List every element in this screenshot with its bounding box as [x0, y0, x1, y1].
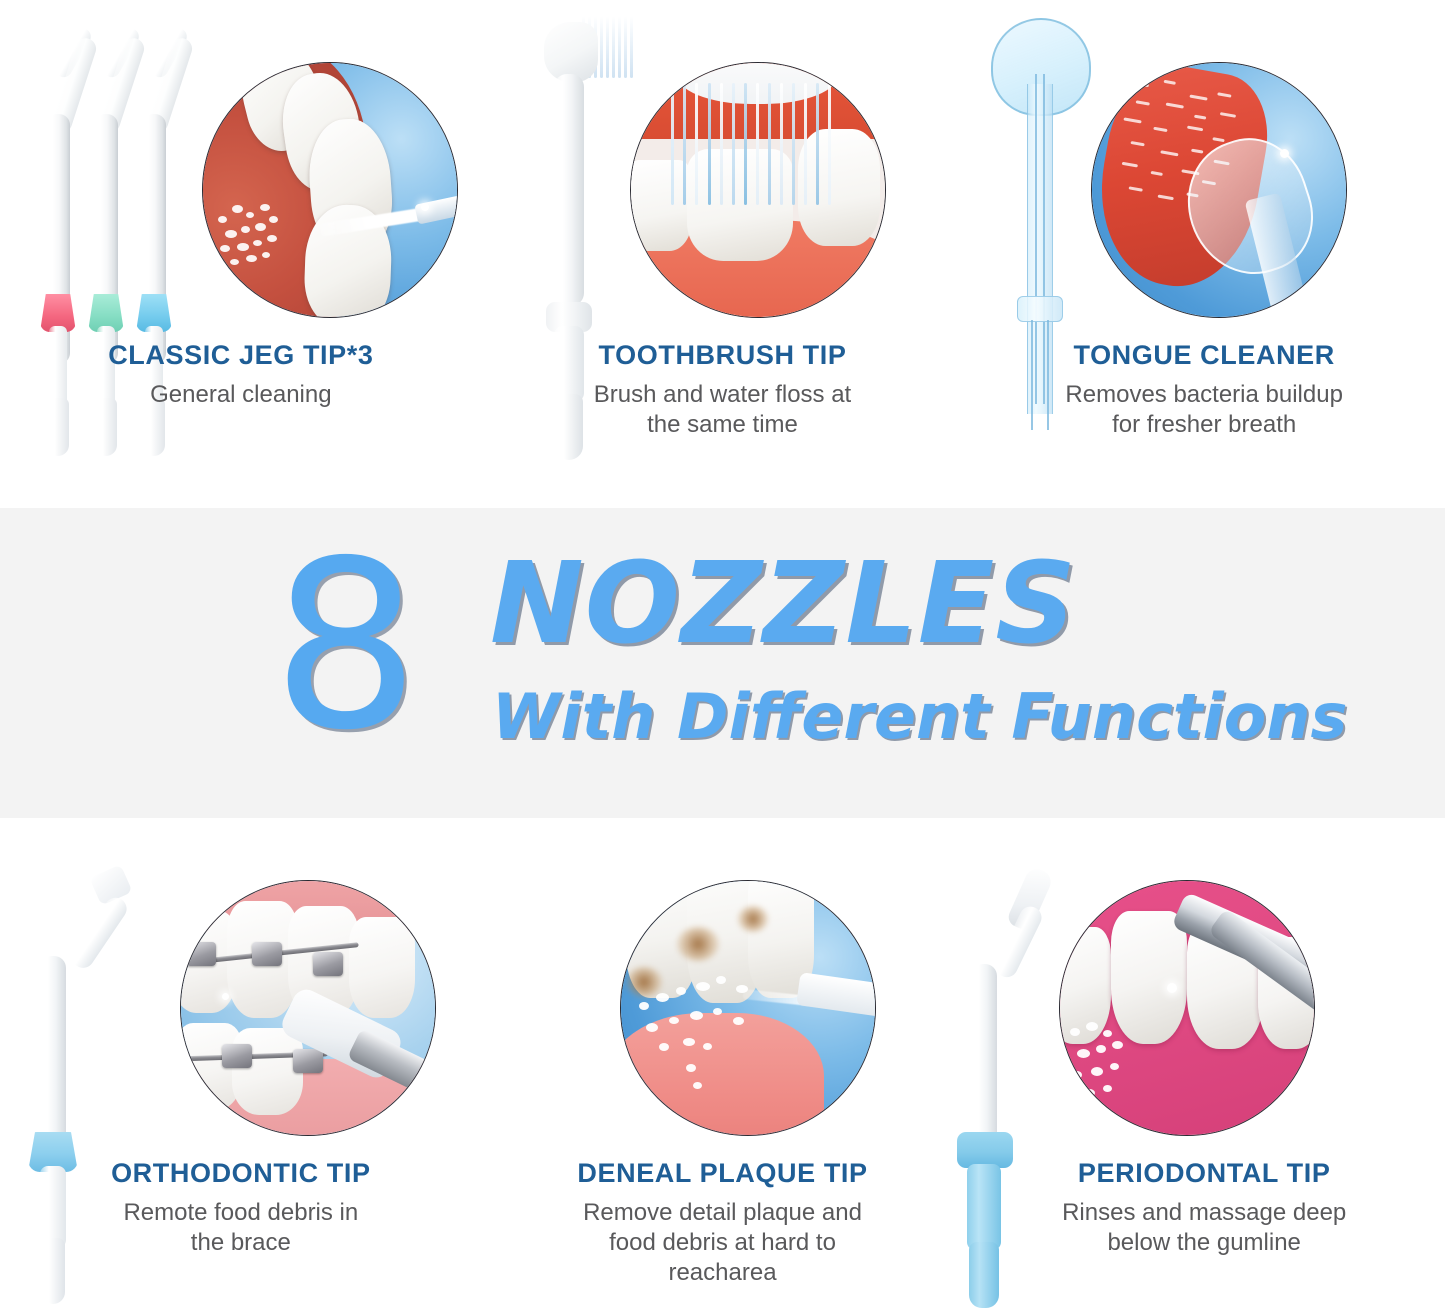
ortho-bend [68, 894, 131, 973]
feature-title: DENEAL PLAQUE TIP [482, 1156, 964, 1190]
feature-title: CLASSIC JEG TIP*3 [0, 338, 482, 372]
photo-gumline-probe [1059, 880, 1315, 1136]
photo-gum-water-jet [202, 62, 458, 318]
feature-description: Brush and water floss at the same time [482, 380, 964, 440]
caption-periodontal-tip: PERIODONTAL TIP Rinses and massage deep … [963, 1156, 1445, 1258]
feature-title: PERIODONTAL TIP [963, 1156, 1445, 1190]
caption-classic-jet-tip: CLASSIC JEG TIP*3 General cleaning [0, 338, 482, 410]
plaque-stain [738, 906, 768, 932]
bracket [313, 952, 343, 976]
feature-card-dental-plaque-tip: DENEAL PLAQUE TIP Remove detail plaque a… [482, 818, 964, 1313]
sparkle-icon [222, 993, 229, 1000]
brush-head [544, 22, 598, 82]
perio-shaft [971, 964, 997, 1144]
banner-content: 8 NOZZLES With Different Functions [0, 508, 1445, 818]
feature-title: ORTHODONTIC TIP [0, 1156, 482, 1190]
ortho-shaft [40, 956, 66, 1146]
feature-card-toothbrush-tip: TOOTHBRUSH TIP Brush and water floss at … [482, 0, 964, 508]
water-splash [1065, 1018, 1182, 1120]
bracket [186, 942, 216, 966]
bristles-in-photo [671, 83, 844, 205]
feature-description: Removes bacteria buildup for fresher bre… [963, 380, 1445, 440]
feature-row-top: CLASSIC JEG TIP*3 General cleaning [0, 0, 1445, 508]
photo-toothbrush-on-teeth [630, 62, 886, 318]
banner-subheadline: With Different Functions [492, 686, 1347, 748]
feature-card-tongue-cleaner: TONGUE CLEANER Removes bacteria buildup … [963, 0, 1445, 508]
bracket [222, 1044, 252, 1068]
tooth [349, 917, 415, 1019]
caption-tongue-cleaner: TONGUE CLEANER Removes bacteria buildup … [963, 338, 1445, 440]
banner-headline: NOZZLES [490, 548, 1077, 660]
photo-tongue-scraper [1091, 62, 1347, 318]
caption-toothbrush-tip: TOOTHBRUSH TIP Brush and water floss at … [482, 338, 964, 440]
bracket [293, 1049, 323, 1073]
banner-number: 8 [272, 530, 414, 762]
brush-shaft [554, 74, 584, 306]
bracket [252, 942, 282, 966]
photo-braces-cleaning [180, 880, 436, 1136]
feature-row-bottom: ORTHODONTIC TIP Remote food debris in th… [0, 818, 1445, 1313]
feature-card-classic-jet-tip: CLASSIC JEG TIP*3 General cleaning [0, 0, 482, 508]
nozzle-count-banner: 8 NOZZLES With Different Functions [0, 508, 1445, 818]
feature-card-orthodontic-tip: ORTHODONTIC TIP Remote food debris in th… [0, 818, 482, 1313]
caption-dental-plaque-tip: DENEAL PLAQUE TIP Remove detail plaque a… [482, 1156, 964, 1288]
feature-description: Rinses and massage deep below the gumlin… [963, 1198, 1445, 1258]
water-droplets [213, 200, 330, 286]
caption-orthodontic-tip: ORTHODONTIC TIP Remote food debris in th… [0, 1156, 482, 1258]
feature-description: General cleaning [0, 380, 482, 410]
water-splash [636, 952, 804, 1099]
scraper-collar-ring [1017, 296, 1063, 322]
sparkle-icon [1167, 983, 1177, 993]
feature-title: TONGUE CLEANER [963, 338, 1445, 372]
feature-description: Remote food debris in the brace [0, 1198, 482, 1258]
feature-card-periodontal-tip: PERIODONTAL TIP Rinses and massage deep … [963, 818, 1445, 1313]
perio-bend [992, 903, 1045, 981]
photo-plaque-water-spray [620, 880, 876, 1136]
feature-title: TOOTHBRUSH TIP [482, 338, 964, 372]
tooth [232, 1028, 303, 1114]
feature-description: Remove detail plaque and food debris at … [482, 1198, 964, 1288]
